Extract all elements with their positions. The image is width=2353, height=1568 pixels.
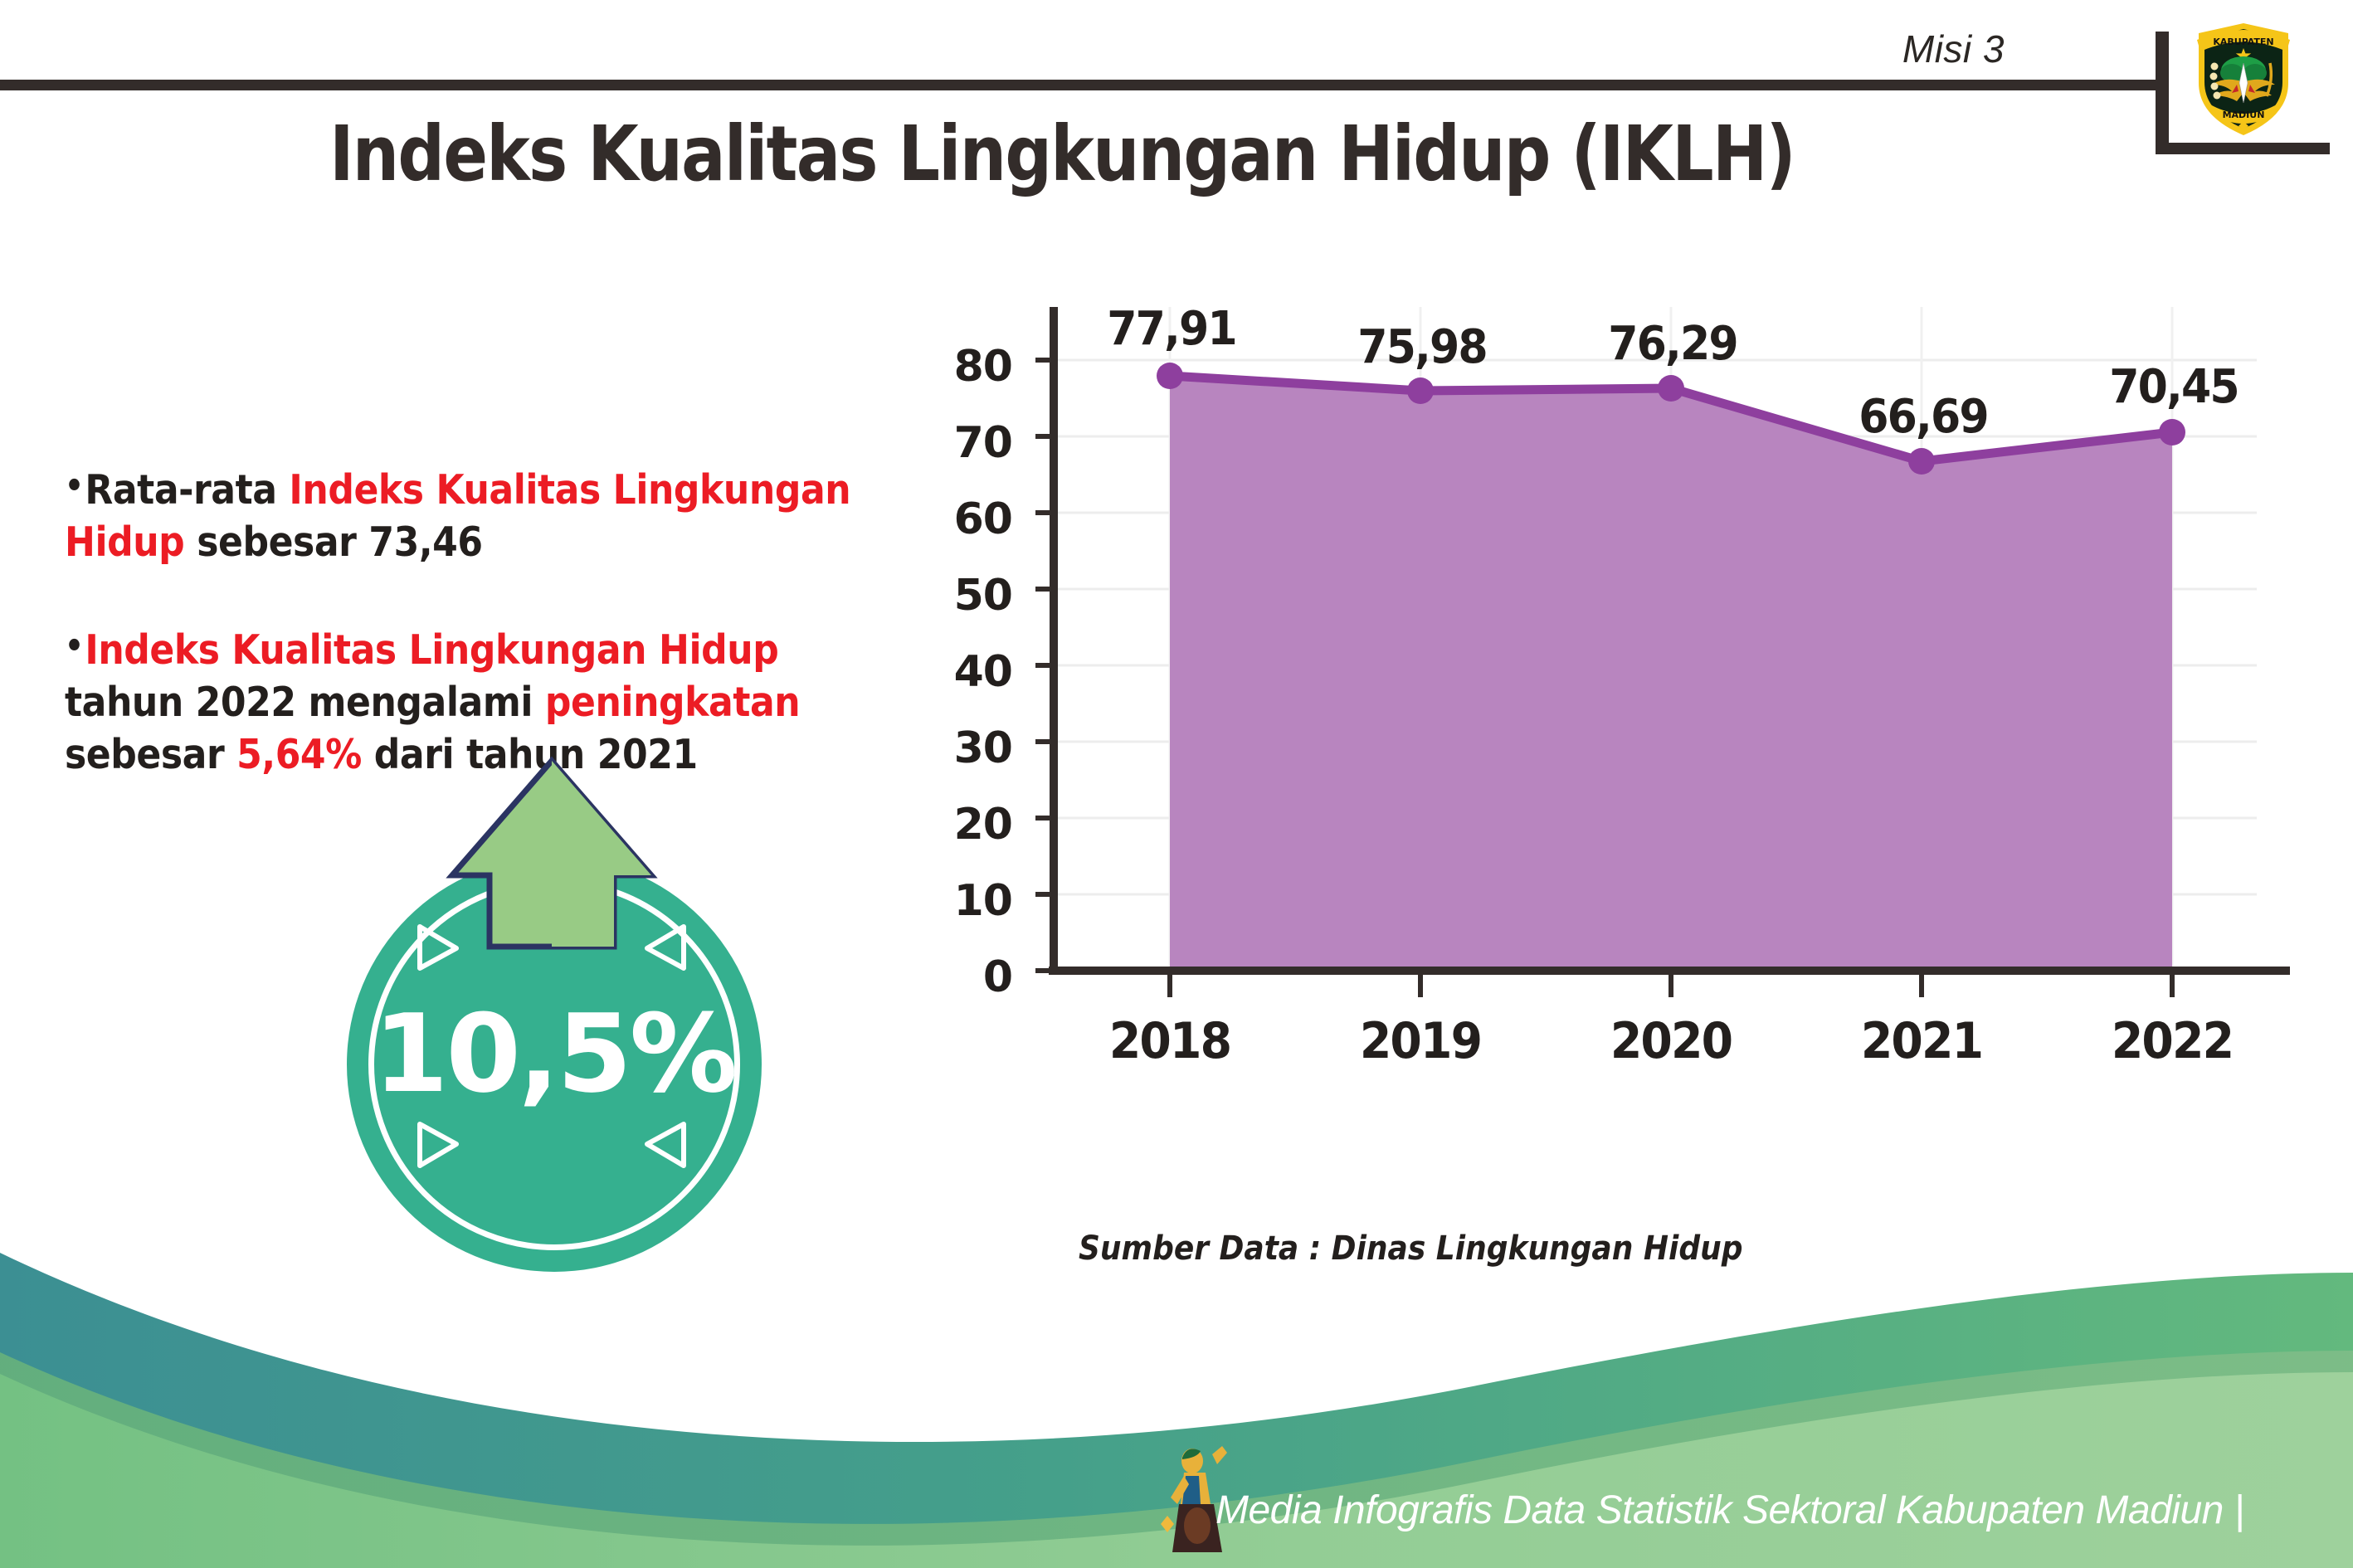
bullet-1-part-3: sebesar 73,46 xyxy=(184,519,482,566)
y-tick-label-20: 20 xyxy=(921,800,1012,850)
tick-mark-bottom-right xyxy=(647,1124,684,1166)
y-tick-label-40: 40 xyxy=(921,647,1012,697)
y-tick-label-70: 70 xyxy=(921,418,1012,468)
x-tick-label-2020: 2020 xyxy=(1587,1012,1755,1070)
tick-mark-bottom-left xyxy=(420,1124,456,1166)
bullet-2-part-2: tahun 2022 mengalami xyxy=(65,679,545,726)
kabupaten-madiun-logo-icon: KABUPATEN MADIUN xyxy=(2190,15,2297,139)
logo-top-text: KABUPATEN xyxy=(2213,37,2273,47)
chart-area-fill xyxy=(1170,376,2172,971)
y-tick-label-80: 80 xyxy=(921,342,1012,392)
data-label-2019: 75,98 xyxy=(1329,320,1514,374)
data-label-2022: 70,45 xyxy=(2081,360,2266,414)
infographic-slide: Misi 3 KABUPATEN xyxy=(0,0,2353,1568)
tick-mark-top-right xyxy=(647,927,684,968)
bullet-2-part-1: Indeks Kualitas Lingkungan Hidup xyxy=(85,626,778,674)
y-tick-label-0: 0 xyxy=(921,952,1012,1002)
page-title: Indeks Kualitas Lingkungan Hidup (IKLH) xyxy=(149,110,1975,198)
y-tick-label-10: 10 xyxy=(921,876,1012,926)
y-tick-label-30: 30 xyxy=(921,723,1012,773)
x-tick-label-2022: 2022 xyxy=(2088,1012,2256,1070)
bullet-item-1: •Rata-rata Indeks Kualitas Lingkungan Hi… xyxy=(65,465,871,568)
badge-percent-label: 10,5% xyxy=(347,1000,762,1108)
data-label-2018: 77,91 xyxy=(1079,302,1264,356)
header-divider xyxy=(0,80,2157,90)
badge-decorations xyxy=(332,751,772,1215)
iklh-area-chart: 0 10 20 30 40 50 60 70 80 2018 2019 2020… xyxy=(962,274,2290,1203)
summary-bullets: •Rata-rata Indeks Kualitas Lingkungan Hi… xyxy=(65,465,961,782)
data-label-2020: 76,29 xyxy=(1580,317,1765,371)
bullet-1-part-1: Rata-rata xyxy=(85,466,289,514)
x-tick-label-2019: 2019 xyxy=(1337,1012,1504,1070)
mission-label: Misi 3 xyxy=(1902,27,2005,71)
tick-mark-top-left xyxy=(420,927,456,968)
x-tick-label-2021: 2021 xyxy=(1838,1012,2005,1070)
logo-bottom-text: MADIUN xyxy=(2223,110,2265,120)
logo-bracket-horizontal xyxy=(2156,143,2330,154)
footer-caption: Media Infografis Data Statistik Sektoral… xyxy=(1215,1488,2244,1533)
y-tick-label-60: 60 xyxy=(921,494,1012,544)
bullet-dot-icon: • xyxy=(65,627,84,665)
x-tick-label-2018: 2018 xyxy=(1086,1012,1254,1070)
bullet-2-part-4: sebesar xyxy=(65,731,236,778)
bullet-2-part-3: peningkatan xyxy=(545,679,800,726)
data-label-2021: 66,69 xyxy=(1830,390,2015,444)
y-tick-label-50: 50 xyxy=(921,571,1012,621)
increase-badge: 10,5% xyxy=(332,751,772,1215)
logo-bracket-vertical xyxy=(2156,32,2169,154)
bullet-dot-icon: • xyxy=(65,467,84,505)
